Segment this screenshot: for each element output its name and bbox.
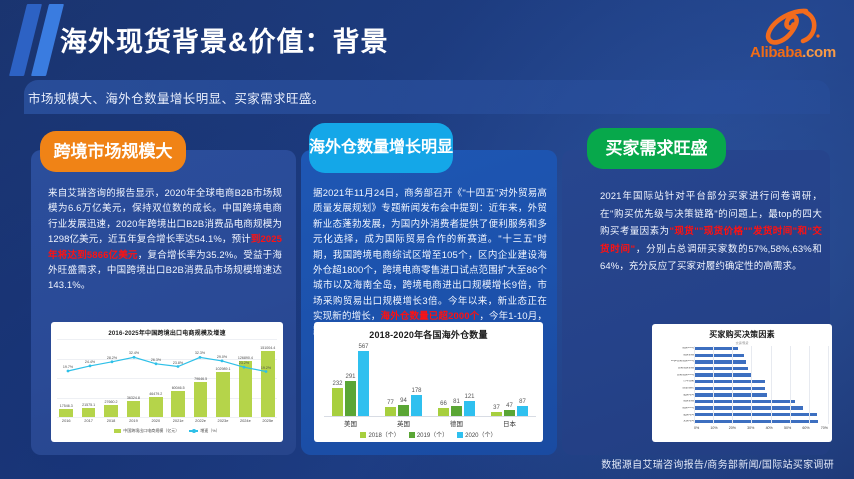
chart2-bar-value: 178 (411, 388, 421, 394)
chart3-bar (694, 393, 767, 396)
legend-swatch-icon (409, 432, 415, 438)
chart2-column: 77 (385, 344, 396, 416)
chart2-bar-value: 567 (358, 344, 368, 350)
body-pre-2: 据2021年11月24日，商务部召开《"十四五"对外贸易高质量发展规划》专题新闻… (313, 188, 547, 322)
chart2-legend-item: 2019（个） (409, 430, 448, 439)
chart2-column: 66 (438, 344, 449, 416)
chart3-category-label: 现货MOQ (656, 347, 694, 350)
chart1-legend-line: 增速（%） (189, 428, 220, 434)
chart2-column: 178 (411, 344, 422, 416)
chart3-category-label: 交货时间 (656, 420, 694, 423)
chart3-tick: 30% (747, 426, 754, 430)
chart1-legend-label-bar: 中国跨境出口电商规模（亿元） (123, 428, 179, 434)
chart1-title: 2016-2025年中国跨境出口电商规模及增速 (51, 328, 283, 337)
chart3-bar (694, 360, 746, 363)
chart3-gridline (751, 346, 752, 424)
chart2-bar-value: 66 (440, 401, 447, 407)
chart2-column: 81 (451, 344, 462, 416)
chart2-bar-value: 87 (519, 399, 526, 405)
chart1-tick: 2019 (124, 418, 142, 423)
chart2-legend-label: 2020（个） (465, 430, 496, 439)
chart3-bar (694, 400, 795, 403)
chart3-tick: 10% (710, 426, 717, 430)
chart3-gridline (790, 346, 791, 424)
chart2-bar (332, 388, 343, 416)
subtitle-text: 市场规模大、海外仓数量增长明显、买家需求旺盛。 (28, 88, 325, 107)
chart2-bar-value: 37 (493, 405, 500, 411)
chart3-category-label: 现货价格 (656, 354, 694, 357)
chart2-bar-value: 47 (506, 403, 513, 409)
chart2-column: 567 (358, 344, 369, 416)
chart1-tick: 2020 (147, 418, 165, 423)
chart2-bar-value: 232 (332, 381, 342, 387)
chart2-group: 6681121 (438, 344, 475, 416)
chart-buyer-decision-factors: 买家购买决策因素 交货/现货 现货MOQ现货价格Logo定制现货MOQ定制现货价… (652, 324, 832, 442)
chart2-bar-value: 77 (387, 400, 394, 406)
card-body-buyer-demand: 2021年国际站针对平台部分买家进行问卷调研，在"购买优先级与决策链路"的问题上… (600, 188, 822, 276)
chart2-tick: 德国 (450, 418, 463, 428)
chart2-column: 37 (491, 344, 502, 416)
chart1-legend: 中国跨境出口电商规模（亿元） 增速（%） (51, 428, 283, 434)
legend-swatch-line-icon (189, 430, 198, 432)
chart3-tick: 60% (802, 426, 809, 430)
chart2-group: 232291567 (332, 344, 369, 416)
chart2-bar (517, 406, 528, 416)
chart3-bar (694, 406, 803, 409)
chart1-tick: 2025e (259, 418, 277, 423)
brand-wordmark: Alibaba.com (740, 44, 846, 61)
chart2-legend: 2018（个）2019（个）2020（个） (314, 430, 543, 439)
chart2-bar (358, 351, 369, 416)
chart3-bar (694, 354, 744, 357)
chart2-column: 121 (464, 344, 475, 416)
chart2-group: 7794178 (385, 344, 422, 416)
chart3-tick: 40% (766, 426, 773, 430)
chart2-column: 291 (345, 344, 356, 416)
card-title-buyer-demand: 买家需求旺盛 (587, 128, 726, 169)
chart3-bar (694, 380, 765, 383)
chart1-line-value: 19.2% (261, 366, 271, 370)
chart1-tick: 2021e (169, 418, 187, 423)
chart3-tick: 70% (821, 426, 828, 430)
chart3-gridline (828, 346, 829, 424)
chart3-bars (694, 346, 828, 424)
chart1-line-value: 24.4% (85, 360, 95, 364)
chart3-gridline (713, 346, 714, 424)
chart1-line-value: 19.7% (63, 365, 73, 369)
brand-logo: Alibaba.com (740, 8, 846, 70)
body-highlight-2: 海外仓数量已超2000个 (381, 311, 480, 322)
chart3-plot-area: 现货MOQ现货价格Logo定制现货MOQ定制现货价格定制现货MOQ订单交期质量/… (656, 346, 828, 424)
chart3-category-label: 现货MOQ (656, 407, 694, 410)
chart2-column: 47 (504, 344, 515, 416)
chart2-bar-value: 94 (400, 398, 407, 404)
brand-suffix: .com (802, 44, 836, 61)
chart2-bar-value: 291 (345, 374, 355, 380)
chart1-x-axis: 201620172018201920202021e2022e2023e2024e… (57, 418, 277, 423)
source-note: 数据源自艾瑞咨询报告/商务部新闻/国际站买家调研 (601, 456, 834, 471)
chart1-tick: 2016 (57, 418, 75, 423)
chart1-tick: 2018 (102, 418, 120, 423)
chart2-legend-item: 2018（个） (360, 430, 399, 439)
chart1-tick: 2024e (236, 418, 254, 423)
legend-swatch-bar-icon (114, 429, 121, 433)
chart3-category-label: 定制现货MOQ (656, 374, 694, 377)
chart2-tick: 美国 (344, 418, 357, 428)
chart1-line-value: 23.2% (239, 361, 249, 365)
chart3-tick: 50% (784, 426, 791, 430)
chart2-x-axis: 美国英国德国日本 (324, 418, 536, 428)
chart3-category-label: Logo定制现货MOQ (656, 360, 694, 363)
chart1-tick: 2023e (214, 418, 232, 423)
chart1-legend-bar: 中国跨境出口电商规模（亿元） (114, 428, 179, 434)
chart3-category-label: 质量/质检 (656, 387, 694, 390)
chart3-bar (694, 387, 765, 390)
chart2-column: 232 (332, 344, 343, 416)
chart2-column: 87 (517, 344, 528, 416)
chart1-legend-label-line: 增速（%） (200, 428, 220, 434)
chart3-category-label: 发货时间 (656, 414, 694, 417)
chart2-bar-value: 121 (464, 394, 474, 400)
page-title: 海外现货背景&价值：背景 (60, 20, 389, 59)
chart3-title: 买家购买决策因素 (652, 329, 832, 340)
chart2-bar (345, 381, 356, 416)
chart2-tick: 英国 (397, 418, 410, 428)
legend-swatch-icon (457, 432, 463, 438)
chart2-bar (398, 405, 409, 416)
chart3-tick: 20% (729, 426, 736, 430)
chart2-legend-item: 2020（个） (457, 430, 496, 439)
card-title-overseas-warehouse: 海外仓数量增长明显 (309, 123, 453, 173)
chart1-line-value: 32.4% (129, 351, 139, 355)
chart3-x-axis: 0%10%20%30%40%50%60%70% (694, 426, 828, 430)
chart2-bar (411, 395, 422, 416)
chart3-category-labels: 现货MOQ现货价格Logo定制现货MOQ定制现货价格定制现货MOQ订单交期质量/… (656, 346, 694, 424)
slide-header: 海外现货背景&价值：背景 Alibaba.com (0, 0, 854, 80)
chart3-gridline (771, 346, 772, 424)
chart2-tick: 日本 (503, 418, 516, 428)
card-body-market-size: 来自艾瑞咨询的报告显示，2020年全球电商B2B市场规模为6.6万亿美元，保持双… (48, 186, 282, 294)
chart2-plot: 23229156777941786681121374787 (324, 344, 536, 416)
chart2-bar (385, 407, 396, 416)
chart3-category-label: 定制现货价格 (656, 367, 694, 370)
body-pre-1: 来自艾瑞咨询的报告显示，2020年全球电商B2B市场规模为6.6万亿美元，保持双… (48, 188, 282, 245)
chart-warehouse-count: 2018-2020年各国海外仓数量 2322915677794178668112… (314, 322, 543, 442)
chart2-column: 94 (398, 344, 409, 416)
chart1-line-value: 26.3% (151, 358, 161, 362)
legend-swatch-icon (360, 432, 366, 438)
chart1-tick: 2017 (79, 418, 97, 423)
chart2-bar (438, 408, 449, 416)
alibaba-logo-icon (762, 8, 826, 46)
chart3-category-label: 订单交期 (656, 380, 694, 383)
chart1-plot: 17546.321575.127660.236324.846479.260046… (57, 339, 277, 417)
chart2-group: 374787 (491, 344, 528, 416)
chart2-bar-value: 81 (453, 399, 460, 405)
chart1-tick: 2022e (191, 418, 209, 423)
chart3-gridline (732, 346, 733, 424)
chart2-axis-line (324, 416, 536, 417)
brand-name: Alibaba (750, 44, 802, 61)
chart2-legend-label: 2019（个） (417, 430, 448, 439)
chart1-line-value: 29.0% (217, 355, 227, 359)
chart2-bar (464, 401, 475, 416)
chart1-growth-line (57, 339, 277, 417)
chart3-tick: 0% (694, 426, 699, 430)
chart3-gridline (809, 346, 810, 424)
card-title-market-size: 跨境市场规模大 (40, 131, 186, 172)
chart3-bar (694, 373, 751, 376)
chart1-line-value: 28.2% (107, 356, 117, 360)
chart3-subtitle: 交货/现货 (652, 341, 832, 345)
chart2-legend-label: 2018（个） (368, 430, 399, 439)
chart3-category-label: 发货时间 (656, 394, 694, 397)
card-body-overseas-warehouse: 据2021年11月24日，商务部召开《"十四五"对外贸易高质量发展规划》专题新闻… (313, 186, 547, 340)
chart2-title: 2018-2020年各国海外仓数量 (314, 328, 543, 341)
chart-cross-border-scale: 2016-2025年中国跨境出口电商规模及增速 17546.321575.127… (51, 322, 283, 442)
chart1-line-value: 23.8% (173, 361, 183, 365)
chart2-bar (451, 406, 462, 416)
chart3-gridline (694, 346, 695, 424)
chart3-bar (694, 367, 748, 370)
chart3-category-label: 现货价格 (656, 400, 694, 403)
chart1-line-value: 32.3% (195, 351, 205, 355)
